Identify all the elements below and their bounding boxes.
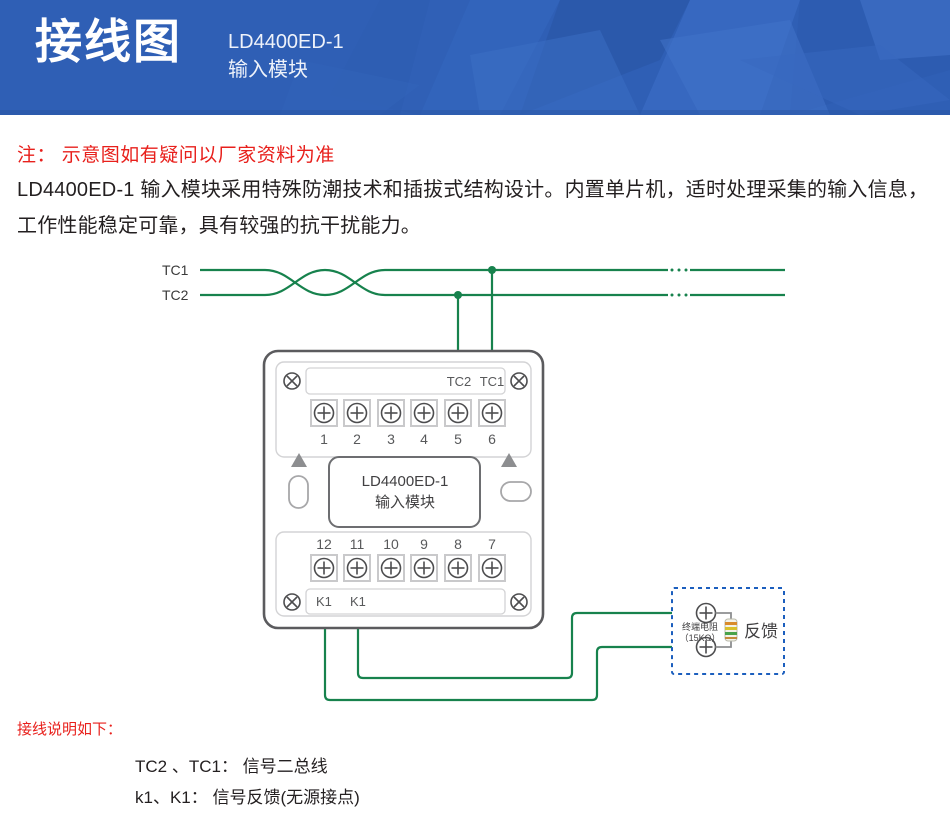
wiring-diagram-svg: TC1 TC2: [0, 248, 950, 708]
slot-right-horizontal: [501, 482, 531, 501]
page-header: 接线图 LD4400ED-1 输入模块: [0, 0, 950, 115]
slot-left-vertical: [289, 476, 308, 508]
top-terminal-num-1: 1: [320, 431, 328, 447]
bottom-terminal-num-11: 11: [350, 536, 365, 552]
bottom-terminal-block: 12 11 10 9 8 7: [276, 532, 531, 616]
module-nameplate: [329, 457, 480, 527]
feedback-terminal-top[interactable]: [697, 604, 716, 623]
bottom-terminal-num-9: 9: [420, 536, 428, 552]
mount-screw-top-right: [511, 373, 527, 389]
header-model: LD4400ED-1: [228, 28, 344, 56]
bottom-terminal-num-12: 12: [316, 536, 332, 552]
top-label-strip: [306, 368, 505, 394]
bus-label-tc1: TC1: [162, 262, 189, 278]
mount-screw-top-left: [284, 373, 300, 389]
top-terminal-block: TC2 TC1 1 2 3 4: [276, 362, 531, 457]
bus-break-marker: [671, 269, 688, 297]
resistor-label-name: 终端电阻: [682, 621, 718, 632]
input-module[interactable]: TC2 TC1 1 2 3 4: [264, 351, 543, 628]
bottom-label-strip: [306, 589, 505, 614]
bottom-terminal-num-10: 10: [383, 536, 399, 552]
feedback-box: 终端电阻 （15KΩ） 反馈: [672, 588, 784, 674]
resistor-label-value: （15KΩ）: [680, 633, 721, 643]
module-name-text: LD4400ED-1: [362, 473, 449, 490]
legend-item-bus: TC2 、TC1： 信号二总线: [135, 752, 328, 777]
feedback-box-title: 反馈: [744, 622, 778, 641]
feedback-wire-outer: [325, 628, 672, 700]
terminal-tag-k1-b: K1: [350, 594, 366, 609]
mount-screw-bottom-right: [511, 594, 527, 610]
top-terminal-num-3: 3: [387, 431, 395, 447]
bus-label-tc2: TC2: [162, 287, 189, 303]
top-terminal-num-4: 4: [420, 431, 428, 447]
legend-title: 接线说明如下：: [17, 718, 122, 739]
product-description: LD4400ED-1 输入模块采用特殊防潮技术和插拔式结构设计。内置单片机，适时…: [17, 172, 937, 244]
terminal-tag-tc1: TC1: [480, 374, 505, 389]
terminal-tag-k1-a: K1: [316, 594, 332, 609]
wiring-diagram: TC1 TC2: [0, 248, 950, 708]
junction-dot-tc1: [488, 266, 496, 274]
header-subtitle-block: LD4400ED-1 输入模块: [228, 28, 344, 84]
module-subtitle-text: 输入模块: [375, 494, 435, 511]
page-title: 接线图: [35, 18, 182, 65]
bottom-terminal-num-7: 7: [488, 536, 496, 552]
top-terminal-num-5: 5: [454, 431, 462, 447]
terminating-resistor-symbol: [725, 619, 737, 641]
legend-item-feedback: k1、K1： 信号反馈(无源接点): [135, 783, 360, 808]
terminal-tag-tc2: TC2: [447, 374, 472, 389]
bottom-terminal-num-8: 8: [454, 536, 462, 552]
mount-screw-bottom-left: [284, 594, 300, 610]
disclaimer-note: 注： 示意图如有疑问以厂家资料为准: [17, 140, 335, 167]
junction-dot-tc2: [454, 291, 462, 299]
top-terminal-num-2: 2: [353, 431, 361, 447]
top-terminal-num-6: 6: [488, 431, 496, 447]
header-module-type: 输入模块: [228, 56, 344, 84]
